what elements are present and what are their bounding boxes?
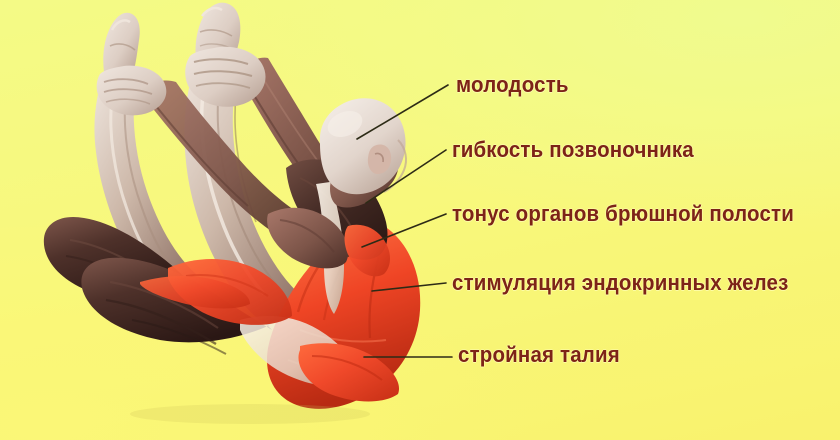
label-slim-waist: стройная талия [458, 344, 620, 366]
label-youth: молодость [456, 74, 569, 96]
label-spine-flex: гибкость позвоночника [452, 139, 694, 161]
benefit-labels: молодость гибкость позвоночника тонус ор… [0, 0, 840, 440]
label-endocrine: стимуляция эндокринных желез [452, 272, 788, 294]
label-abdominal-tone: тонус органов брюшной полости [452, 203, 794, 225]
infographic-poster: молодость гибкость позвоночника тонус ор… [0, 0, 840, 440]
